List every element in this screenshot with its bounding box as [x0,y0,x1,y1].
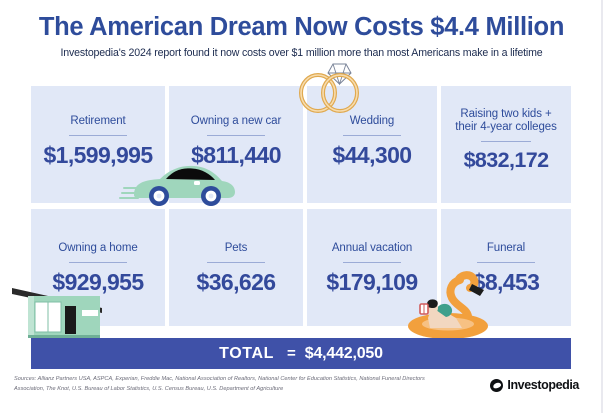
cost-card-label: Wedding [307,115,437,128]
total-equals-sign: = [287,345,296,362]
cost-card-retirement: Retirement $1,599,995 [31,86,165,203]
infographic-frame: The American Dream Now Costs $4.4 Millio… [0,0,603,413]
cost-card-value: $832,172 [441,148,571,173]
cost-card-label: Retirement [31,115,165,128]
cost-card-label: Funeral [441,242,571,255]
cost-card-value: $811,440 [169,142,303,169]
sources-line-2: Association, The Knot, U.S. Bureau of La… [14,385,434,395]
investopedia-wordmark: Investopedia [507,378,579,392]
cost-card-label-line-1: Raising two kids + [441,108,571,121]
page-title: The American Dream Now Costs $4.4 Millio… [0,13,603,42]
investopedia-logo: Investopedia [490,378,579,392]
cost-card-label: Owning a home [31,242,165,255]
page-subtitle: Investopedia's 2024 report found it now … [0,47,603,59]
cost-card-value: $8,453 [441,269,571,296]
cost-card-raising-kids: Raising two kids + their 4-year colleges… [441,86,571,203]
investopedia-mark-icon [490,379,503,392]
cost-card-label: Owning a new car [169,115,303,128]
cost-card-new-car: Owning a new car $811,440 [169,86,303,203]
divider [69,135,127,136]
cost-card-funeral: Funeral $8,453 [441,209,571,326]
divider [477,262,535,263]
cost-card-label: Raising two kids + their 4-year colleges [441,108,571,134]
cost-card-owning-home: Owning a home $929,955 [31,209,165,326]
cost-card-value: $929,955 [31,269,165,296]
divider [69,262,127,263]
total-bar: TOTAL = $4,442,050 [31,338,571,369]
divider [343,262,401,263]
cost-card-label: Annual vacation [307,242,437,255]
sources-note: Sources: Allianz Partners USA, ASPCA, Ex… [14,375,434,394]
cost-card-value: $1,599,995 [31,142,165,169]
cost-card-value: $36,626 [169,269,303,296]
cost-card-label-line-2: their 4-year colleges [441,121,571,134]
cost-card-value: $179,109 [307,269,437,296]
cost-card-pets: Pets $36,626 [169,209,303,326]
divider [207,135,265,136]
total-value: $4,442,050 [305,345,383,363]
total-label: TOTAL [219,345,274,363]
divider [343,135,401,136]
sources-line-1: Sources: Allianz Partners USA, ASPCA, Ex… [14,375,434,385]
divider [481,141,531,142]
cost-card-value: $44,300 [307,142,437,169]
cost-card-wedding: Wedding $44,300 [307,86,437,203]
divider [207,262,265,263]
cost-card-label: Pets [169,242,303,255]
cost-card-annual-vacation: Annual vacation $179,109 [307,209,437,326]
